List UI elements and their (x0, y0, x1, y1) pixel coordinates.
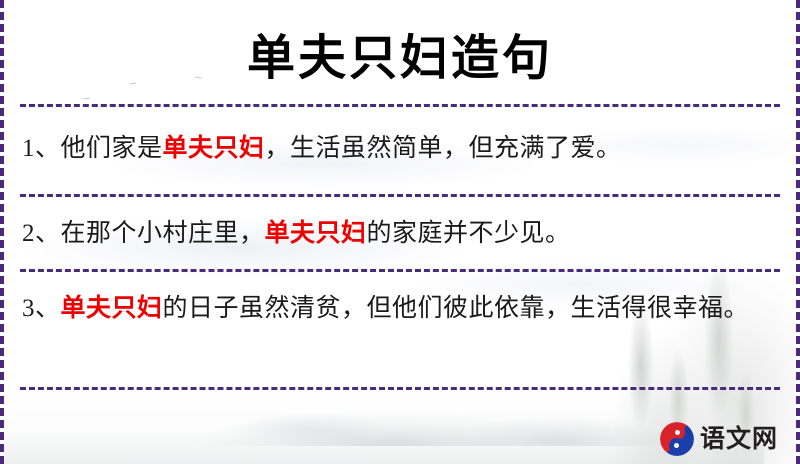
sentence-text-after: 的日子虽然清贫，但他们彼此依靠，生活得很幸福。 (163, 295, 750, 322)
page-title: 单夫只妇造句 (4, 18, 796, 88)
sentence-item: 2、在那个小村庄里，单夫只妇的家庭并不少见。 (22, 214, 770, 254)
sentence-number: 3、 (22, 295, 61, 322)
sentence-text-after: ，生活虽然简单，但充满了爱。 (265, 135, 622, 162)
sentence-text-before: 他们家是 (61, 135, 163, 162)
yinyang-circle-icon (660, 422, 694, 456)
sentence-item: 3、单夫只妇的日子虽然清贫，但他们彼此依靠，生活得很幸福。 (22, 289, 770, 329)
sentence-item: 1、他们家是单夫只妇，生活虽然简单，但充满了爱。 (22, 129, 770, 169)
watermark-mountain-ridge (124, 326, 684, 446)
dashed-separator (20, 194, 780, 197)
watermark-ground-band (4, 394, 764, 464)
site-logo[interactable]: 语文网 (660, 422, 778, 456)
watermark-bird-icon: ~ (81, 92, 92, 104)
sentence-text-after: 的家庭并不少见。 (367, 220, 571, 247)
highlighted-idiom: 单夫只妇 (163, 135, 265, 162)
page-canvas: ~ ~ ~ 单夫只妇造句 1、他们家是单夫只妇，生活虽然简单，但充满了爱。 2、… (0, 0, 800, 464)
sentence-text-before: 在那个小村庄里， (61, 220, 265, 247)
dashed-separator (20, 387, 780, 390)
sentence-number: 2、 (22, 220, 61, 247)
highlighted-idiom: 单夫只妇 (61, 295, 163, 322)
dashed-separator (20, 269, 780, 272)
dashed-separator (20, 104, 780, 107)
highlighted-idiom: 单夫只妇 (265, 220, 367, 247)
site-logo-text: 语文网 (700, 427, 778, 452)
sentence-number: 1、 (22, 135, 61, 162)
